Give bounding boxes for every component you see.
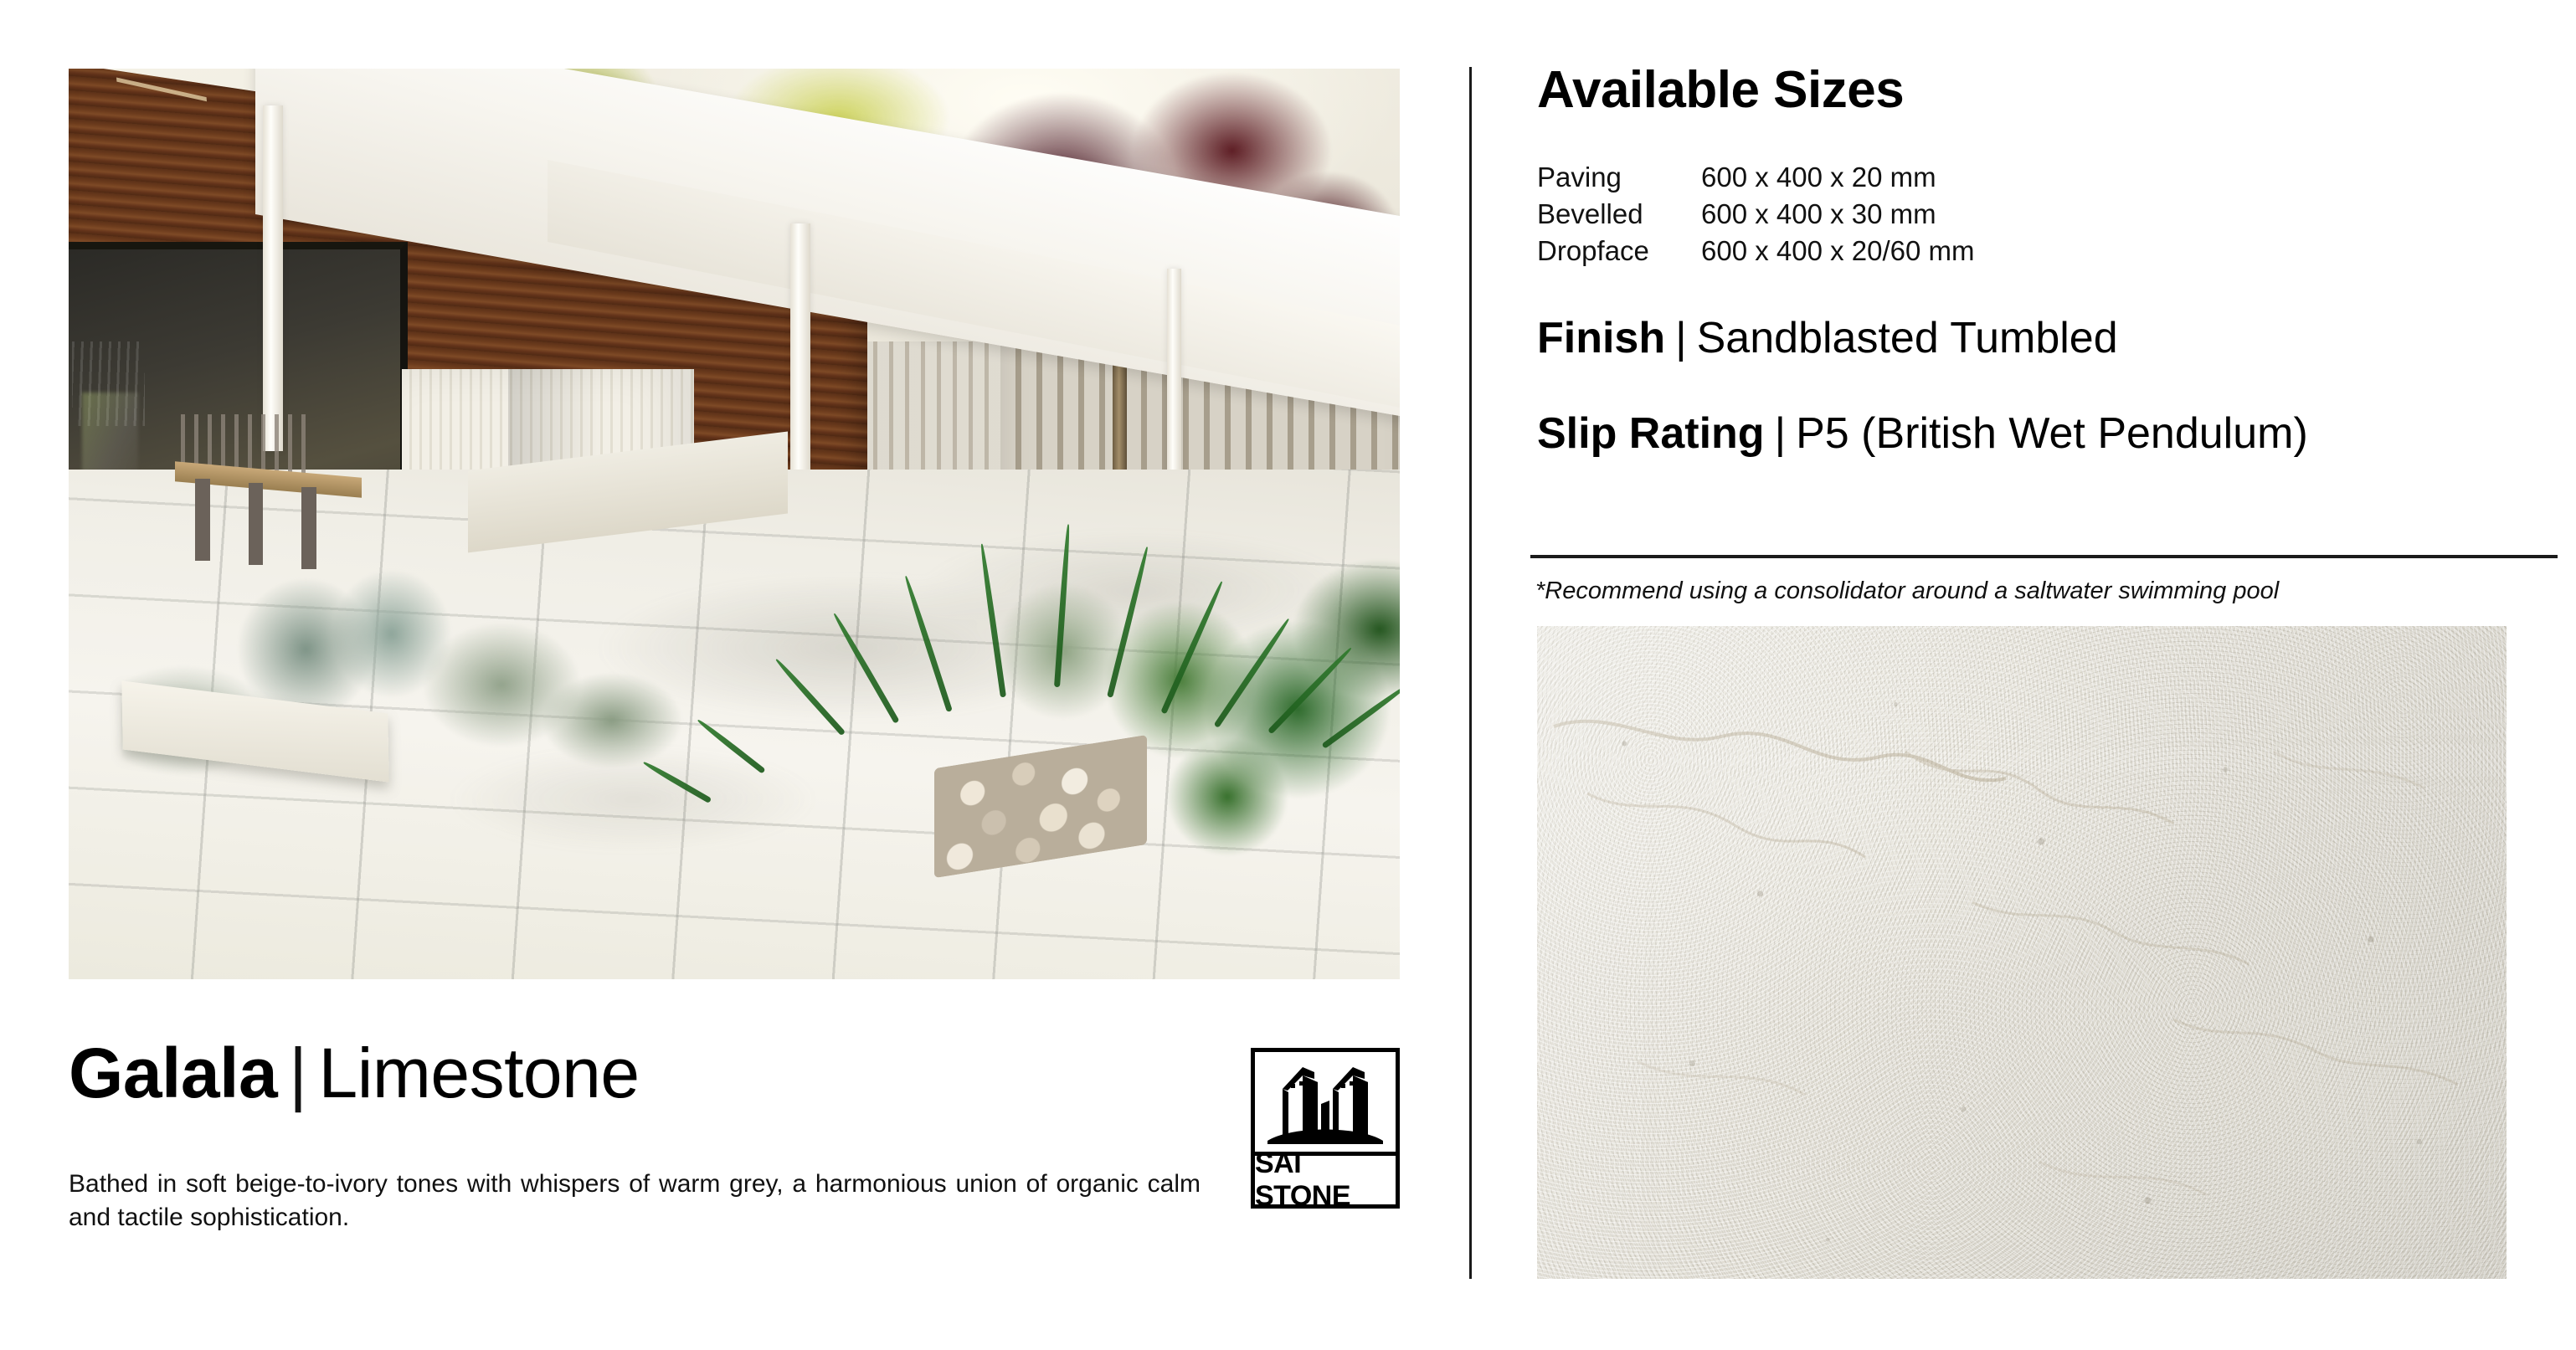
right-panel: Available Sizes Paving 600 x 400 x 20 mm… (1530, 0, 2576, 1350)
brand-wordmark: SAI STONE (1255, 1156, 1396, 1204)
size-value: 600 x 400 x 20 mm (1701, 159, 1936, 196)
size-label: Bevelled (1537, 196, 1701, 233)
product-name: Galala (69, 1034, 277, 1112)
finish-label: Finish (1537, 314, 1665, 362)
photo-dining-chair (301, 487, 316, 569)
left-panel: Galala|Limestone Bathed in soft beige-to… (0, 0, 1469, 1350)
photo-column (263, 105, 283, 451)
size-label: Dropface (1537, 233, 1701, 269)
section-rule (1530, 555, 2558, 558)
finish-value: Sandblasted Tumbled (1697, 314, 2118, 362)
size-value: 600 x 400 x 20/60 mm (1701, 233, 1975, 269)
title-separator: | (289, 1034, 306, 1112)
slip-rating-spec: Slip Rating|P5 (British Wet Pendulum) (1537, 412, 2308, 455)
product-description: Bathed in soft beige-to-ivory tones with… (69, 1168, 1201, 1235)
product-material: Limestone (319, 1034, 640, 1112)
slip-rating-label: Slip Rating (1537, 409, 1765, 458)
finish-spec: Finish|Sandblasted Tumbled (1537, 316, 2118, 360)
brand-logo[interactable]: SAI STONE (1251, 1048, 1400, 1209)
page-title: Galala|Limestone (69, 1038, 1400, 1108)
panel-divider (1469, 67, 1472, 1279)
available-sizes-heading: Available Sizes (1537, 60, 1904, 120)
slip-rating-value: P5 (British Wet Pendulum) (1796, 409, 2308, 458)
available-sizes-table: Paving 600 x 400 x 20 mm Bevelled 600 x … (1537, 159, 1975, 269)
slip-rating-separator: | (1775, 409, 1787, 458)
photo-dining-chair (195, 479, 209, 561)
size-row: Dropface 600 x 400 x 20/60 mm (1537, 233, 1975, 269)
quarry-stone-blocks-icon (1255, 1052, 1396, 1156)
size-value: 600 x 400 x 30 mm (1701, 196, 1936, 233)
size-row: Paving 600 x 400 x 20 mm (1537, 159, 1975, 196)
photo-dining-chair (249, 483, 263, 565)
stone-texture-swatch (1537, 626, 2507, 1279)
size-row: Bevelled 600 x 400 x 30 mm (1537, 196, 1975, 233)
product-sheet: Galala|Limestone Bathed in soft beige-to… (0, 0, 2576, 1350)
size-label: Paving (1537, 159, 1701, 196)
recommendation-note: *Recommend using a consolidator around a… (1535, 577, 2279, 605)
product-title-row: Galala|Limestone (69, 1038, 1400, 1108)
swatch-lighting-overlay (1537, 626, 2507, 1279)
finish-separator: | (1675, 314, 1687, 362)
hero-photo (69, 69, 1400, 979)
